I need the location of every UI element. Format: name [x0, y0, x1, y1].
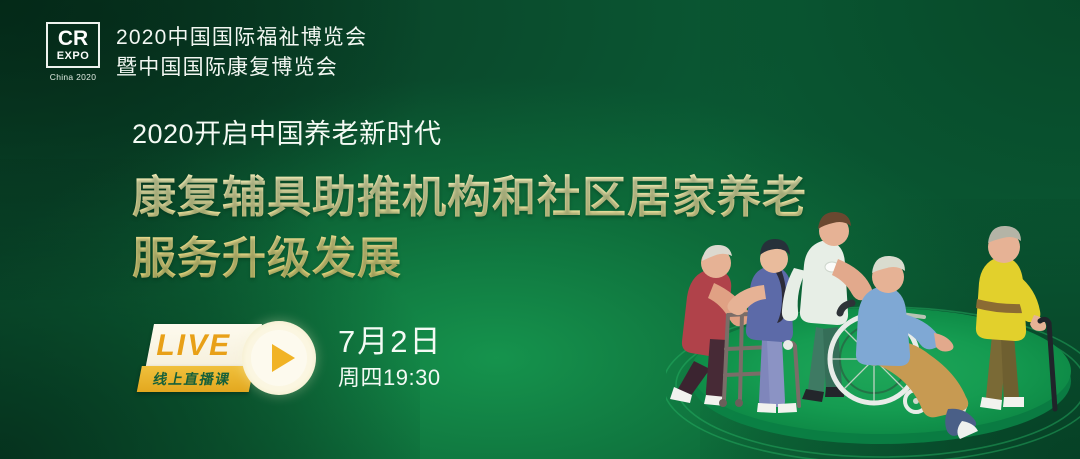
- broadcast-datetime: 7月2日 周四19:30: [338, 325, 442, 390]
- cr-expo-logo: CR EXPO China 2020: [44, 22, 102, 82]
- headline-title-line-1: 康复辅具助推机构和社区居家养老: [132, 168, 807, 229]
- poster-banner: CR EXPO China 2020 2020中国国际福祉博览会 暨中国国际康复…: [0, 0, 1080, 459]
- logo-expo-text: EXPO: [57, 51, 90, 62]
- logo-subtitle: China 2020: [50, 72, 96, 82]
- live-badge-label: LIVE: [136, 324, 253, 368]
- play-triangle-icon: [272, 344, 295, 372]
- live-info-strip: LIVE 线上直播课 7月2日 周四19:30: [136, 320, 442, 396]
- live-badge[interactable]: LIVE 线上直播课: [136, 320, 254, 396]
- logo-cr-text: CR: [58, 28, 88, 49]
- broadcast-time: 周四19:30: [338, 366, 442, 391]
- live-badge-sublabel: 线上直播课: [133, 366, 250, 392]
- event-name-line-2: 暨中国国际康复博览会: [116, 53, 367, 83]
- headline-title-line-2: 服务升级发展: [132, 229, 807, 290]
- play-button-disc: [251, 330, 307, 386]
- headline-title: 康复辅具助推机构和社区居家养老 服务升级发展: [132, 168, 807, 289]
- event-name-line-1: 2020中国国际福祉博览会: [116, 23, 367, 53]
- play-button[interactable]: [242, 321, 316, 395]
- logo-box: CR EXPO: [46, 22, 100, 68]
- headline-kicker: 2020开启中国养老新时代: [132, 118, 807, 150]
- brand-header: CR EXPO China 2020 2020中国国际福祉博览会 暨中国国际康复…: [44, 22, 367, 84]
- event-name-lines: 2020中国国际福祉博览会 暨中国国际康复博览会: [116, 22, 367, 84]
- headline-block: 2020开启中国养老新时代 康复辅具助推机构和社区居家养老 服务升级发展: [132, 118, 807, 290]
- broadcast-date: 7月2日: [338, 325, 442, 360]
